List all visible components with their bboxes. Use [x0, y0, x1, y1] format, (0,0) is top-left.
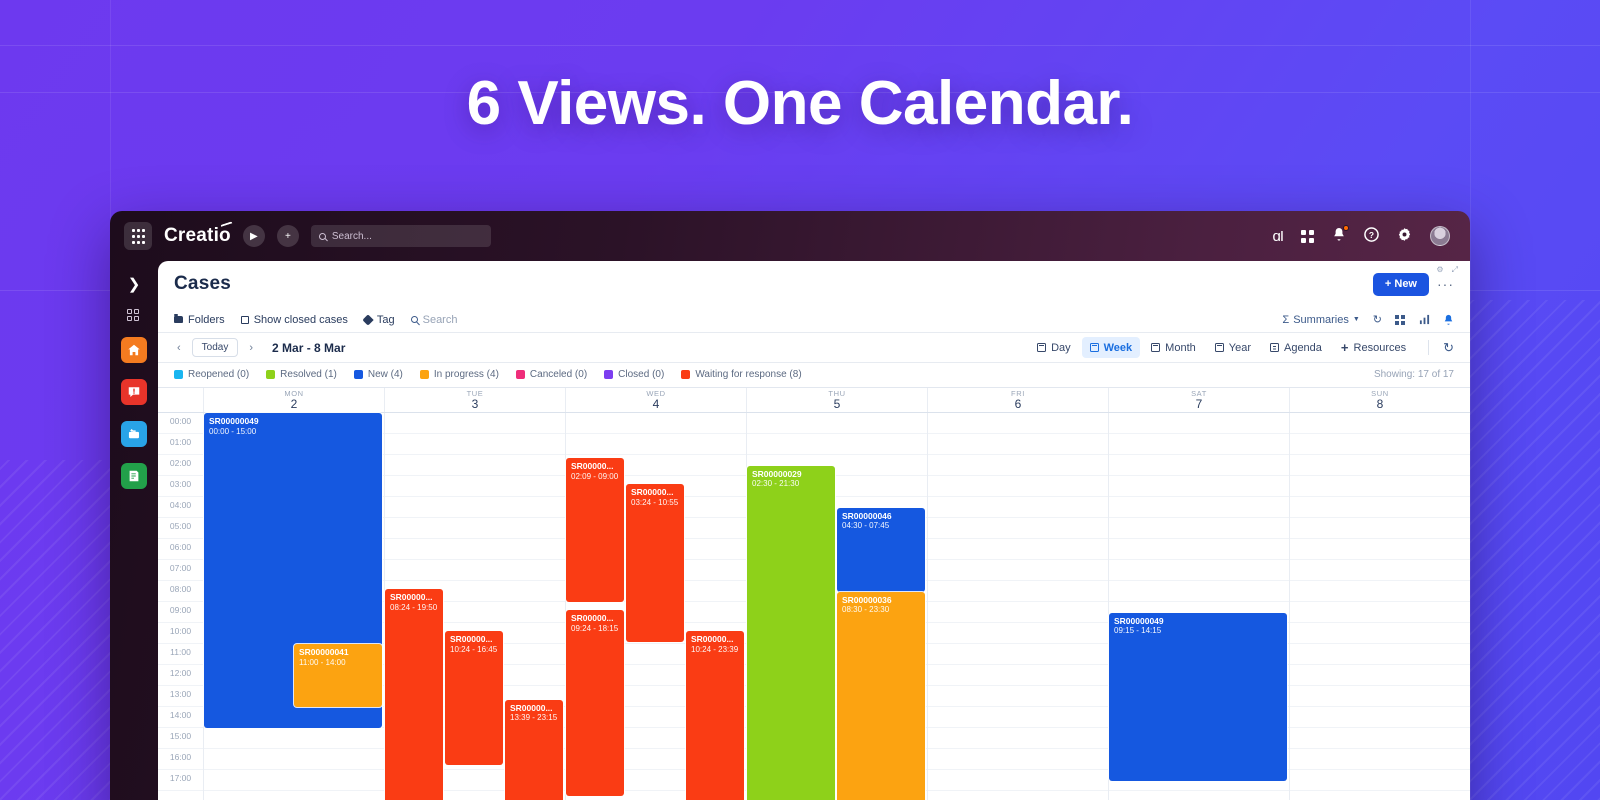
run-process-icon[interactable]: ▶	[243, 225, 265, 247]
event-title: SR00000...	[571, 614, 619, 624]
status-legend: Reopened (0)Resolved (1)New (4)In progre…	[158, 363, 1470, 385]
grid-line	[1290, 497, 1470, 518]
folder-icon	[174, 316, 183, 323]
grid-line	[928, 665, 1108, 686]
time-label: 13:00	[158, 686, 203, 707]
notification-badge	[1343, 225, 1349, 231]
sidebar-expand-icon[interactable]: ❯	[128, 275, 141, 293]
calendar-body[interactable]: 00:0001:0002:0003:0004:0005:0006:0007:00…	[158, 413, 1470, 800]
bell-icon[interactable]	[1332, 227, 1346, 245]
panel-window-controls: ⚙ ⤢	[1436, 265, 1458, 275]
calendar-event[interactable]: SR0000004111:00 - 14:00	[294, 644, 382, 707]
avatar[interactable]	[1430, 226, 1450, 246]
grid-line	[1109, 434, 1289, 455]
expand-icon[interactable]: ⤢	[1452, 265, 1458, 275]
next-period-button[interactable]: ›	[246, 342, 256, 354]
view-button-resources[interactable]: +Resources	[1333, 337, 1414, 358]
filter-search-placeholder: Search	[423, 314, 458, 326]
day-column-5[interactable]: SR0000004909:15 - 14:15	[1109, 413, 1290, 800]
event-title: SR00000...	[390, 593, 438, 603]
promo-headline: 6 Views. One Calendar.	[0, 68, 1600, 139]
gear-icon[interactable]	[1397, 227, 1412, 245]
legend-item-1[interactable]: Resolved (1)	[266, 369, 337, 380]
time-label: 01:00	[158, 434, 203, 455]
grid-line	[385, 455, 565, 476]
add-icon[interactable]: +	[277, 225, 299, 247]
legend-label: In progress (4)	[434, 369, 499, 380]
page-title: Cases	[174, 273, 231, 295]
grid-line	[1290, 707, 1470, 728]
divider	[1428, 340, 1429, 355]
calendar-event[interactable]: SR0000004909:15 - 14:15	[1109, 613, 1287, 781]
bell-icon[interactable]	[1443, 314, 1454, 326]
grid-line	[1109, 539, 1289, 560]
main-menu-grid-icon[interactable]	[124, 222, 152, 250]
event-title: SR00000...	[691, 635, 739, 645]
time-label: 17:00	[158, 770, 203, 791]
event-title: SR00000...	[510, 704, 558, 714]
filter-tag-label: Tag	[377, 314, 395, 326]
day-header-thu[interactable]: THU5	[747, 388, 928, 412]
grid-line	[1290, 560, 1470, 581]
legend-item-4[interactable]: Canceled (0)	[516, 369, 587, 380]
grid-line	[1290, 749, 1470, 770]
day-number: 7	[1109, 398, 1289, 411]
grid-line	[1290, 602, 1470, 623]
time-label: 06:00	[158, 539, 203, 560]
grid-line	[1290, 623, 1470, 644]
event-title: SR00000...	[450, 635, 498, 645]
time-label: 15:00	[158, 728, 203, 749]
calendar-event[interactable]: SR00000...03:24 - 10:55	[626, 484, 684, 642]
grid-line	[928, 602, 1108, 623]
app-window: Creatio ▶ + Search... ɑI	[110, 211, 1470, 800]
grid-line	[385, 560, 565, 581]
grid-line	[1290, 413, 1470, 434]
time-label: 09:00	[158, 602, 203, 623]
view-button-label: Agenda	[1284, 342, 1322, 354]
view-button-label: Resources	[1354, 342, 1407, 354]
view-button-label: Month	[1165, 342, 1196, 354]
grid-line	[747, 413, 927, 434]
summaries-label: Summaries	[1293, 314, 1349, 326]
grid-line	[1290, 644, 1470, 665]
calendar-event[interactable]: SR0000004604:30 - 07:45	[837, 508, 925, 592]
day-header-fri[interactable]: FRI6	[928, 388, 1109, 412]
sidebar-item-tasks[interactable]	[121, 463, 147, 489]
day-column-1[interactable]: SR00000...08:24 - 19:50SR00000...10:24 -…	[385, 413, 566, 800]
grid-line	[928, 749, 1108, 770]
panel-header: Cases + New ···	[158, 261, 1470, 307]
new-button[interactable]: + New	[1373, 273, 1429, 296]
grid-line	[566, 434, 746, 455]
filter-folders[interactable]: Folders	[174, 314, 225, 326]
event-title: SR00000...	[571, 462, 619, 472]
legend-swatch	[174, 370, 183, 379]
sidebar-apps-grid-icon[interactable]	[127, 309, 141, 321]
time-label: 16:00	[158, 749, 203, 770]
grid-line	[1290, 434, 1470, 455]
help-icon[interactable]: ?	[1364, 227, 1379, 245]
global-search-input[interactable]: Search...	[311, 225, 491, 247]
filter-tag[interactable]: Tag	[364, 314, 395, 326]
search-icon	[319, 233, 326, 240]
filter-show-closed-label: Show closed cases	[254, 314, 348, 326]
calendar-week-icon	[1090, 343, 1099, 352]
view-button-year[interactable]: Year	[1207, 337, 1259, 358]
grid-line	[928, 434, 1108, 455]
chevron-down-icon: ▼	[1353, 316, 1360, 323]
grid-line	[928, 644, 1108, 665]
view-button-day[interactable]: Day	[1029, 337, 1079, 358]
grid-line	[928, 497, 1108, 518]
grid-line	[1109, 455, 1289, 476]
legend-item-2[interactable]: New (4)	[354, 369, 403, 380]
grid-line	[1290, 518, 1470, 539]
grid-line	[1290, 539, 1470, 560]
search-icon	[411, 316, 418, 323]
calendar-day-icon	[1037, 343, 1046, 352]
event-title: SR00000...	[631, 488, 679, 498]
grid-line	[1109, 497, 1289, 518]
grid-line	[928, 413, 1108, 434]
app-top-bar: Creatio ▶ + Search... ɑI	[110, 211, 1470, 261]
grid-line	[928, 518, 1108, 539]
grid-corner	[158, 388, 204, 412]
grid-line	[204, 749, 384, 770]
pin-icon[interactable]: ⚙	[1436, 265, 1443, 275]
agenda-list-icon	[1270, 343, 1279, 352]
event-time: 08:24 - 19:50	[390, 603, 438, 613]
tag-icon	[362, 314, 373, 325]
view-button-month[interactable]: Month	[1143, 337, 1204, 358]
event-time: 02:30 - 21:30	[752, 479, 830, 489]
legend-label: Canceled (0)	[530, 369, 587, 380]
grid-line	[747, 434, 927, 455]
day-number: 3	[385, 398, 565, 411]
checkbox-icon	[241, 316, 249, 324]
calendar-year-icon	[1215, 343, 1224, 352]
content-panel: ⚙ ⤢ Cases + New ··· Folders Show closed …	[158, 261, 1470, 800]
time-label: 14:00	[158, 707, 203, 728]
legend-label: Closed (0)	[618, 369, 664, 380]
grid-line	[1109, 518, 1289, 539]
event-title: SR00000049	[209, 417, 377, 427]
calendar-event[interactable]: SR0000002902:30 - 21:30	[747, 466, 835, 800]
grid-line	[1109, 476, 1289, 497]
view-button-label: Week	[1104, 342, 1133, 354]
global-search-placeholder: Search...	[332, 231, 372, 242]
grid-line	[928, 728, 1108, 749]
calendar-event[interactable]: SR00000...02:09 - 09:00	[566, 458, 624, 602]
sidebar-item-cases[interactable]	[121, 379, 147, 405]
time-axis: 00:0001:0002:0003:0004:0005:0006:0007:00…	[158, 413, 204, 800]
view-button-label: Year	[1229, 342, 1251, 354]
grid-line	[1109, 581, 1289, 602]
grid-line	[928, 476, 1108, 497]
legend-item-3[interactable]: In progress (4)	[420, 369, 499, 380]
event-title: SR00000046	[842, 512, 920, 522]
view-switcher: DayWeekMonthYearAgenda+Resources	[1029, 337, 1414, 358]
legend-label: Resolved (1)	[280, 369, 337, 380]
grid-line	[928, 707, 1108, 728]
showing-count: Showing: 17 of 17	[1374, 369, 1454, 380]
day-column-3[interactable]: SR0000002902:30 - 21:30SR0000004604:30 -…	[747, 413, 928, 800]
grid-line	[928, 455, 1108, 476]
grid-line	[928, 581, 1108, 602]
calendar-event[interactable]: SR00000...08:24 - 19:50	[385, 589, 443, 800]
event-time: 10:24 - 23:39	[691, 645, 739, 655]
grid-line	[385, 476, 565, 497]
event-title: SR00000029	[752, 470, 830, 480]
day-header-tue[interactable]: TUE3	[385, 388, 566, 412]
event-time: 08:30 - 23:30	[842, 605, 920, 615]
time-label: 10:00	[158, 623, 203, 644]
grid-line	[385, 518, 565, 539]
time-label: 02:00	[158, 455, 203, 476]
legend-label: New (4)	[368, 369, 403, 380]
day-header-mon[interactable]: MON2	[204, 388, 385, 412]
top-bar-actions: ɑI ?	[1272, 226, 1456, 246]
legend-item-0[interactable]: Reopened (0)	[174, 369, 249, 380]
legend-item-6[interactable]: Waiting for response (8)	[681, 369, 801, 380]
day-header-wed[interactable]: WED4	[566, 388, 747, 412]
more-actions-button[interactable]: ···	[1437, 276, 1454, 292]
calendar-event[interactable]: SR00000...09:24 - 18:15	[566, 610, 624, 796]
event-time: 11:00 - 14:00	[299, 658, 377, 668]
filter-bar: Folders Show closed cases Tag Search Σ S…	[158, 307, 1470, 333]
day-header-row: MON2TUE3WED4THU5FRI6SAT7SUN8	[158, 387, 1470, 413]
day-header-sun[interactable]: SUN8	[1290, 388, 1470, 412]
event-time: 09:24 - 18:15	[571, 624, 619, 634]
day-number: 4	[566, 398, 746, 411]
calendar-event[interactable]: SR00000...10:24 - 23:39	[686, 631, 744, 800]
today-button[interactable]: Today	[192, 338, 239, 357]
calendar-refresh-button[interactable]: ↻	[1443, 340, 1454, 356]
sigma-icon: Σ	[1282, 314, 1289, 326]
day-column-6[interactable]	[1290, 413, 1470, 800]
grid-line	[928, 560, 1108, 581]
grid-line	[1290, 665, 1470, 686]
grid-line	[566, 413, 746, 434]
calendar-event[interactable]: SR00000...13:39 - 23:15	[505, 700, 563, 800]
event-time: 03:24 - 10:55	[631, 498, 679, 508]
legend-item-5[interactable]: Closed (0)	[604, 369, 664, 380]
filter-show-closed-cases[interactable]: Show closed cases	[241, 314, 348, 326]
day-column-2[interactable]: SR00000...02:09 - 09:00SR00000...09:24 -…	[566, 413, 747, 800]
grid-line	[385, 497, 565, 518]
time-label: 08:00	[158, 581, 203, 602]
left-sidebar: ❯	[110, 261, 158, 800]
legend-swatch	[354, 370, 363, 379]
ai-icon[interactable]: ɑI	[1272, 229, 1283, 244]
apps-grid-icon[interactable]	[1301, 230, 1314, 243]
grid-line	[385, 413, 565, 434]
event-time: 02:09 - 09:00	[571, 472, 619, 482]
grid-line	[928, 770, 1108, 791]
grid-line	[1290, 770, 1470, 791]
calendar-event[interactable]: SR0000003608:30 - 23:30	[837, 592, 925, 800]
time-label: 05:00	[158, 518, 203, 539]
view-button-week[interactable]: Week	[1082, 337, 1141, 358]
grid-line	[1290, 686, 1470, 707]
day-number: 5	[747, 398, 927, 411]
event-time: 10:24 - 16:45	[450, 645, 498, 655]
refresh-icon[interactable]: ↻	[1373, 313, 1382, 326]
time-label: 11:00	[158, 644, 203, 665]
day-number: 6	[928, 398, 1108, 411]
plus-icon: +	[1341, 340, 1349, 355]
brand-logo[interactable]: Creatio	[164, 225, 231, 247]
svg-text:?: ?	[1369, 230, 1374, 240]
sidebar-item-service[interactable]	[121, 421, 147, 447]
legend-swatch	[266, 370, 275, 379]
grid-line	[204, 770, 384, 791]
calendar-grid: MON2TUE3WED4THU5FRI6SAT7SUN8 00:0001:000…	[158, 387, 1470, 800]
grid-line	[1109, 560, 1289, 581]
legend-label: Reopened (0)	[188, 369, 249, 380]
event-title: SR00000036	[842, 596, 920, 606]
grid-line	[928, 686, 1108, 707]
legend-swatch	[420, 370, 429, 379]
legend-swatch	[604, 370, 613, 379]
filter-search[interactable]: Search	[411, 314, 458, 326]
view-button-agenda[interactable]: Agenda	[1262, 337, 1330, 358]
view-button-label: Day	[1051, 342, 1071, 354]
sidebar-item-home[interactable]	[121, 337, 147, 363]
day-header-sat[interactable]: SAT7	[1109, 388, 1290, 412]
legend-swatch	[516, 370, 525, 379]
time-label: 07:00	[158, 560, 203, 581]
calendar-event[interactable]: SR00000...10:24 - 16:45	[445, 631, 503, 764]
time-label: 12:00	[158, 665, 203, 686]
grid-line	[385, 539, 565, 560]
day-number: 2	[204, 398, 384, 411]
grid-line	[928, 539, 1108, 560]
event-time: 09:15 - 14:15	[1114, 626, 1282, 636]
grid-line	[385, 434, 565, 455]
day-columns: SR0000004900:00 - 15:00SR0000004111:00 -…	[204, 413, 1470, 800]
grid-line	[1290, 455, 1470, 476]
date-range-label: 2 Mar - 8 Mar	[272, 341, 345, 355]
time-label: 04:00	[158, 497, 203, 518]
grid-line	[1290, 728, 1470, 749]
summaries-button[interactable]: Σ Summaries ▼	[1282, 314, 1359, 326]
day-number: 8	[1290, 398, 1470, 411]
day-column-4[interactable]	[928, 413, 1109, 800]
event-time: 04:30 - 07:45	[842, 521, 920, 531]
day-column-0[interactable]: SR0000004900:00 - 15:00SR0000004111:00 -…	[204, 413, 385, 800]
event-time: 13:39 - 23:15	[510, 713, 558, 723]
event-time: 00:00 - 15:00	[209, 427, 377, 437]
calendar-toolbar: ‹ Today › 2 Mar - 8 Mar DayWeekMonthYear…	[158, 333, 1470, 363]
grid-line	[1290, 581, 1470, 602]
grid-line	[1109, 413, 1289, 434]
calendar-month-icon	[1151, 343, 1160, 352]
event-title: SR00000041	[299, 648, 377, 658]
grid-line	[928, 623, 1108, 644]
grid-line	[1290, 476, 1470, 497]
grid-line	[204, 728, 384, 749]
legend-swatch	[681, 370, 690, 379]
filter-folders-label: Folders	[188, 314, 225, 326]
prev-period-button[interactable]: ‹	[174, 342, 184, 354]
time-label: 03:00	[158, 476, 203, 497]
event-title: SR00000049	[1114, 617, 1282, 627]
time-label: 00:00	[158, 413, 203, 434]
chart-icon[interactable]	[1419, 314, 1430, 325]
kanban-icon[interactable]	[1395, 315, 1406, 325]
legend-label: Waiting for response (8)	[695, 369, 801, 380]
